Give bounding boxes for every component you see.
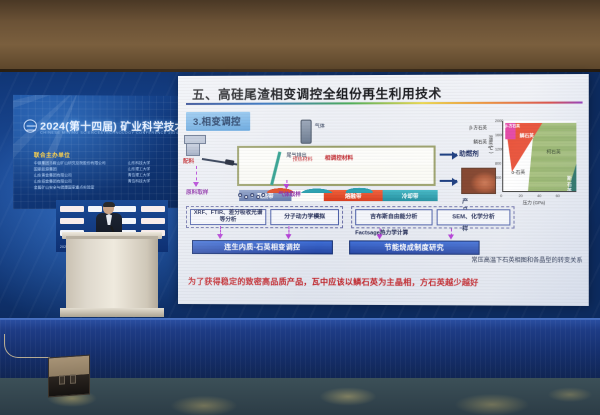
region-label-coesite: 柯石英 [546, 149, 560, 155]
xtick: 60 [556, 194, 560, 198]
ytick: 1600 [495, 133, 503, 137]
slide-title: 五、高硅尾渣相变调控全组份再生利用技术 [192, 83, 442, 103]
chart-xlabel: 压力 (GPa) [523, 200, 545, 206]
xtick: 20 [519, 194, 523, 198]
result-arrow-1-icon [217, 234, 223, 239]
sample-gas-arrow-icon [283, 184, 289, 189]
result-arrow-3-icon [377, 234, 383, 239]
analysis-box-md: 分子动力学模拟 [270, 209, 339, 225]
speaker [96, 202, 122, 236]
sponsor-item: 金属矿山安全与健康国家重点实验室 [34, 185, 106, 191]
floor-cable [4, 334, 50, 358]
analysis-box-gibbs: 吉布斯自由能分析 [355, 209, 432, 225]
conference-emblem-icon [24, 119, 37, 132]
furnace-process-diagram: 配料 预热带 熔融带 冷却带 [182, 131, 455, 204]
banner-section-label: 联合主办单位 [34, 151, 70, 159]
result-box-firing-regime: 节能烧成制度研究 [349, 240, 479, 254]
xtick: 0 [500, 194, 502, 198]
projection-screen: 五、高硅尾渣相变调控全组份再生利用技术 3.相变调控 配料 预热带 熔融带 冷却… [178, 74, 589, 306]
region-label-beta-cristobalite: β-方石英 [505, 124, 520, 129]
gas-label: 气体 [315, 123, 325, 130]
sample-raw-label: 原料取样 [186, 188, 208, 196]
slide-conclusion-text: 为了获得稳定的致密高品质产品，瓦中应该以鳞石英为主晶相，方石英越少越好 [188, 276, 479, 288]
zone-cool-label: 冷却带 [383, 192, 438, 200]
ytick: 1200 [495, 147, 503, 151]
control-material-label: 相调控材料 [325, 154, 353, 162]
phase-diagram-caption: 常压高温下石英相图和各晶型的转变关系 [465, 255, 589, 264]
sponsor-item: 青岛科技大学 [128, 179, 150, 185]
speaker-hair [103, 202, 115, 208]
slide-section-chip: 3.相变调控 [186, 112, 250, 131]
ceiling [0, 0, 600, 72]
floor [0, 378, 600, 415]
stage-front-skirt [0, 320, 600, 382]
sample-gas-label: 气体取样 [278, 190, 301, 198]
ytick: 2000 [495, 119, 503, 123]
product-output-arrow-icon [440, 180, 457, 182]
result-arrow-2-icon [285, 234, 291, 239]
phase-annotation-tridymite: 鳞石英 [473, 139, 487, 145]
title-rainbow-rule [186, 101, 583, 105]
xtick: 40 [537, 194, 541, 198]
sponsor-list-left: 中钢集团马鞍山矿山研究总院股份有限公司 国家能源集团 山东黄金集团有限公司 山东… [34, 161, 106, 192]
combustion-agent-arrow-icon [440, 154, 457, 156]
chart-plot-area: 鳞石英 柯石英 斯石英 α-石英 β-方石英 [502, 121, 576, 192]
result-arrow-4-icon [448, 235, 454, 240]
ytick: 400 [495, 176, 501, 180]
banner-title-en: CHINESE MINING SCIENCE&TECHNOLOGY CONFER… [40, 131, 178, 135]
conference-banner: 2024(第十四届) 矿业科学技术大会 CHINESE MINING SCIEN… [13, 95, 182, 209]
feed-hopper-icon [186, 140, 200, 156]
phase-annotation-beta-cristobalite: β-方石英 [469, 125, 487, 131]
feed-label: 配料 [183, 157, 194, 165]
region-label-stishovite: 斯石英 [567, 176, 576, 192]
floor-equipment-box [48, 355, 90, 398]
podium [66, 236, 158, 314]
analysis-box-xrf: XRF、FTIR、差分吸收光谱等分析 [190, 209, 266, 225]
zone-cool: 冷却带 [383, 190, 438, 201]
sample-raw-arrow-icon [193, 182, 199, 187]
chimney-icon [301, 120, 312, 144]
stage-skirt-texture [0, 320, 600, 382]
chart-ylabel: 温度 (℃) [488, 135, 494, 153]
patterned-carpet [0, 378, 600, 415]
conference-hall-scene: 2024(第十四届) 矿业科学技术大会 CHINESE MINING SCIEN… [0, 0, 600, 415]
feed-head-icon [225, 159, 235, 165]
material-label: 预热材料 [292, 156, 312, 163]
sponsor-list-right: 山东科技大学 山东理工大学 青岛理工大学 青岛科技大学 [128, 161, 150, 185]
region-label-alpha-quartz: α-石英 [511, 170, 525, 176]
zone-melt-label: 熔融带 [324, 192, 383, 200]
phase-diagram-chart: β-方石英 鳞石英 温度 (℃) 鳞石英 柯石英 斯石英 α-石英 β-方石英 … [473, 115, 582, 213]
result-box-phase-control: 连生内质-石英相变调控 [192, 240, 333, 254]
ytick: 800 [495, 162, 501, 166]
podium-base [60, 308, 164, 317]
bead-cluster-icon [236, 192, 266, 200]
region-label-tridymite: 鳞石英 [520, 133, 534, 139]
